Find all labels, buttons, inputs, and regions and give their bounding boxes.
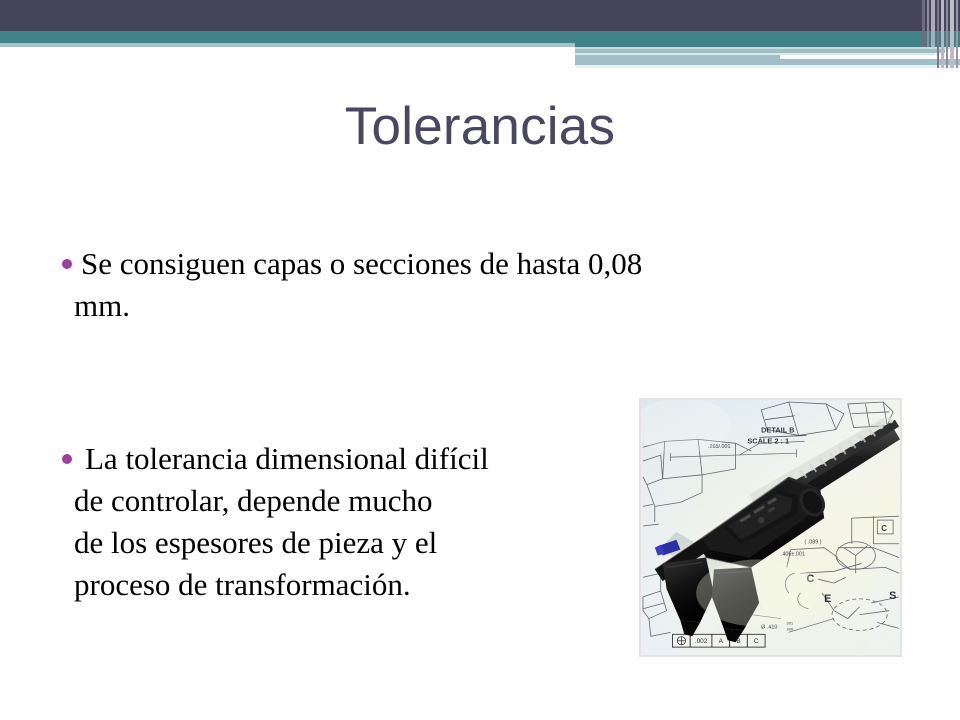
header-vertical-stripe-8 [956, 0, 958, 68]
caliper-drawing-svg: DETAIL B SCALE 2 : 1 .265/.001 ( .089 ) … [641, 400, 900, 655]
bullet-2-line-2: de controlar, depende mucho [62, 480, 662, 522]
bullet-item-2: La tolerancia dimensional difícil de con… [62, 438, 662, 607]
drawing-dim-mid: ( .089 ) [804, 540, 821, 546]
page-title: Tolerancias [0, 98, 960, 156]
header-accent-line-4 [575, 65, 960, 68]
header-teal-band-left [0, 31, 575, 43]
bullet-item-1: Se consiguen capas o secciones de hasta … [62, 243, 862, 327]
header-vertical-stripe-1 [922, 0, 925, 47]
header-vertical-stripe-4 [937, 0, 939, 68]
bullet-1-line-1: Se consiguen capas o secciones de hasta … [81, 243, 862, 285]
caliper-drawing-image: DETAIL B SCALE 2 : 1 .265/.001 ( .089 ) … [639, 398, 902, 657]
drawing-dim-tol: .405±.001 [781, 552, 805, 558]
bullet-1-line-2: mm. [62, 285, 862, 327]
datum-c: C [754, 638, 759, 645]
header-vertical-stripe-7 [950, 0, 954, 68]
datum-a: A [719, 638, 724, 645]
header-vertical-stripe-5 [941, 0, 944, 68]
header-band-notch [780, 55, 960, 59]
header-vertical-stripe-2 [927, 0, 929, 47]
header-vertical-stripe-3 [931, 0, 935, 47]
bullet-dot-icon [62, 259, 72, 269]
bullet-2-line-1: La tolerancia dimensional difícil [85, 438, 662, 480]
bullet-2-line-4: proceso de transformación. [62, 564, 662, 606]
header-dark-band [0, 0, 960, 31]
drawing-letter-e: E [824, 593, 831, 605]
slide-canvas: Tolerancias Se consiguen capas o seccion… [0, 0, 960, 720]
datum-tolerance-value: .002 [695, 638, 708, 645]
bullet-dot-icon [62, 454, 72, 464]
drawing-dim-bottom-lower: .000 [786, 627, 793, 631]
bullet-2-line-3: de los espesores de pieza y el [62, 522, 662, 564]
drawing-letter-s: S [889, 590, 896, 602]
header-vertical-stripe-6 [946, 0, 948, 68]
header-lightblue-band-left [0, 43, 575, 47]
drawing-letter-c2: C [881, 524, 887, 533]
drawing-label-scale: SCALE 2 : 1 [747, 436, 789, 445]
header-teal-band-right [575, 31, 960, 47]
drawing-label-detail: DETAIL B [761, 425, 794, 434]
